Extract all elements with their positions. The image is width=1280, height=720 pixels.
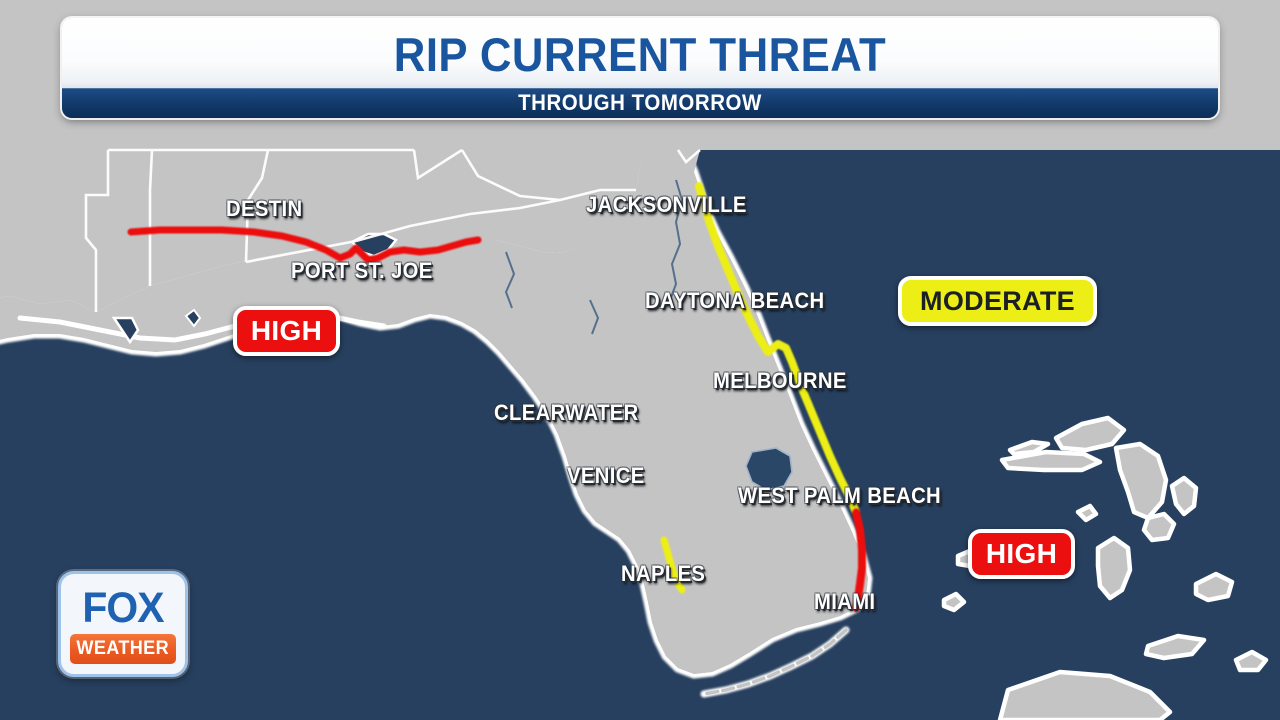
page-title: RIP CURRENT THREAT <box>102 22 1177 88</box>
fox-weather-logo: FOX WEATHER <box>58 571 188 677</box>
title-banner: RIP CURRENT THREAT THROUGH TOMORROW <box>62 18 1218 118</box>
weather-product-text: WEATHER <box>77 638 170 660</box>
weather-bar: WEATHER <box>70 634 176 664</box>
new-providence <box>1144 514 1174 540</box>
legend-badge-moderate-east: MODERATE <box>898 276 1097 326</box>
fox-brand-text: FOX <box>64 582 182 634</box>
legend-badge-high-gulf: HIGH <box>233 306 340 356</box>
rip-current-threat-map: RIP CURRENT THREAT THROUGH TOMORROW DEST… <box>0 0 1280 720</box>
legend-badge-high-atlantic: HIGH <box>968 529 1075 579</box>
page-subtitle: THROUGH TOMORROW <box>102 88 1177 118</box>
